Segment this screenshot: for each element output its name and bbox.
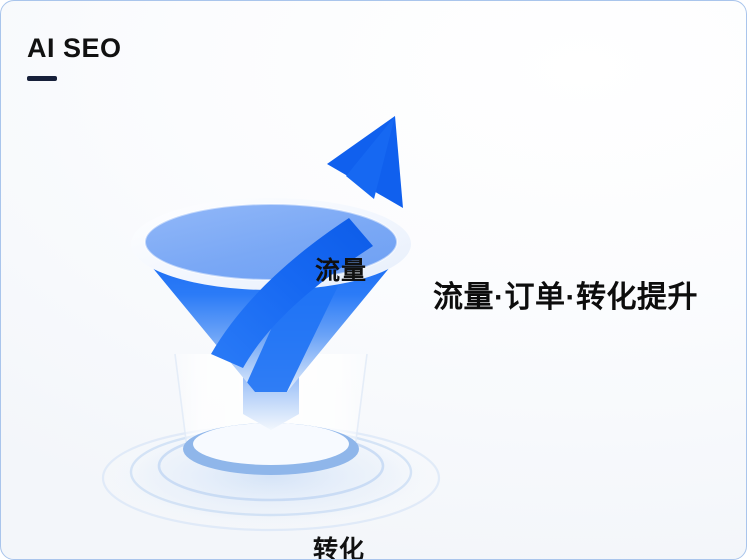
page-title: AI SEO (27, 35, 327, 62)
poster-canvas: AI SEO (0, 0, 747, 560)
funnel-illustration: 流量 转化 (91, 96, 451, 541)
brand-title-block: AI SEO (27, 35, 327, 81)
funnel-illustration-svg (91, 96, 451, 541)
base-ring (183, 423, 359, 475)
label-conversion: 转化 (313, 530, 365, 560)
title-underline-rule (27, 76, 57, 81)
headline-text: 流量·订单·转化提升 (433, 279, 698, 317)
label-traffic: 流量 (315, 251, 367, 287)
